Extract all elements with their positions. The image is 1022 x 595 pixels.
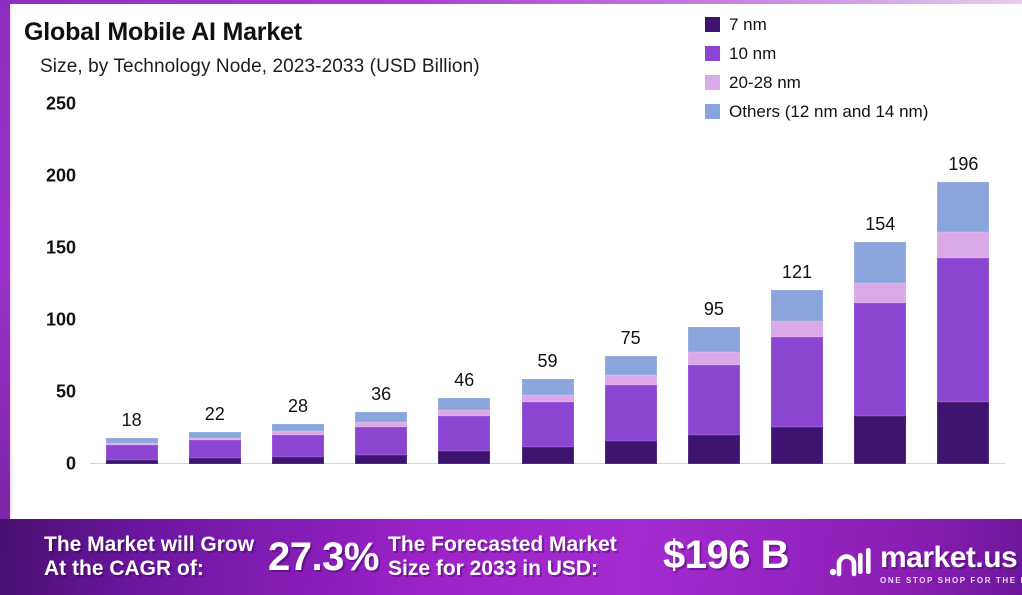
- legend-swatch-icon: [705, 17, 720, 32]
- cagr-label: The Market will Grow At the CAGR of:: [44, 533, 254, 581]
- bar-segment[interactable]: [106, 460, 158, 464]
- bar-value-label: 28: [288, 396, 308, 417]
- legend-item[interactable]: 20-28 nm: [705, 68, 1015, 97]
- bar-segment[interactable]: [355, 455, 407, 464]
- bar-segment[interactable]: [605, 385, 657, 441]
- forecast-label: The Forecasted Market Size for 2033 in U…: [388, 533, 617, 581]
- bar-value-label: 46: [454, 370, 474, 391]
- bar-value-label: 75: [621, 328, 641, 349]
- bar-segment[interactable]: [272, 424, 324, 431]
- y-axis-tick-label: 50: [56, 382, 76, 403]
- bar-segment[interactable]: [605, 375, 657, 384]
- logo-tagline: ONE STOP SHOP FOR THE REPORTS: [880, 576, 1022, 585]
- bar-segment[interactable]: [522, 447, 574, 464]
- banner-content: The Market will Grow At the CAGR of: 27.…: [0, 519, 1022, 595]
- y-axis-tick-label: 250: [46, 94, 76, 115]
- bar-segment[interactable]: [937, 258, 989, 402]
- forecast-label-line1: The Forecasted Market: [388, 533, 617, 556]
- bar-segment[interactable]: [937, 182, 989, 232]
- bar-segment[interactable]: [854, 242, 906, 282]
- legend-swatch-icon: [705, 46, 720, 61]
- bar-stack[interactable]: [605, 356, 657, 464]
- y-axis-tick-label: 200: [46, 166, 76, 187]
- bar-segment[interactable]: [688, 327, 740, 352]
- legend-item-label: 10 nm: [729, 44, 776, 64]
- bar-stack[interactable]: [937, 182, 989, 464]
- y-axis-tick-label: 100: [46, 310, 76, 331]
- bar-value-label: 121: [782, 262, 812, 283]
- legend-item[interactable]: 10 nm: [705, 39, 1015, 68]
- bar-value-label: 36: [371, 384, 391, 405]
- bar-segment[interactable]: [854, 416, 906, 464]
- bar-segment[interactable]: [522, 402, 574, 447]
- y-axis-tick-label: 150: [46, 238, 76, 259]
- bar-segment[interactable]: [771, 337, 823, 426]
- bar-segment[interactable]: [272, 435, 324, 457]
- bar-value-label: 18: [122, 410, 142, 431]
- bar-stack[interactable]: [272, 424, 324, 464]
- bottom-banner: The Market will Grow At the CAGR of: 27.…: [0, 519, 1022, 595]
- legend-item[interactable]: 7 nm: [705, 10, 1015, 39]
- bar-value-label: 154: [865, 214, 895, 235]
- bar-segment[interactable]: [605, 356, 657, 375]
- page-title: Global Mobile AI Market: [24, 18, 302, 47]
- y-axis: 050100150200250: [12, 104, 82, 464]
- bar-segment[interactable]: [189, 440, 241, 458]
- cagr-label-line1: The Market will Grow: [44, 533, 254, 556]
- bar-segment[interactable]: [937, 232, 989, 258]
- bar-segment[interactable]: [937, 402, 989, 464]
- bar-segment[interactable]: [688, 435, 740, 464]
- bar-segment[interactable]: [189, 458, 241, 464]
- legend-item-label: 7 nm: [729, 15, 767, 35]
- cagr-label-line2: At the CAGR of:: [44, 557, 204, 580]
- chart-card: Global Mobile AI Market Size, by Technol…: [10, 4, 1022, 517]
- bar-segment[interactable]: [272, 457, 324, 464]
- bar-segment[interactable]: [355, 412, 407, 422]
- bar-value-label: 22: [205, 404, 225, 425]
- bar-segment[interactable]: [522, 395, 574, 402]
- forecast-label-line2: Size for 2033 in USD:: [388, 557, 598, 580]
- bar-stack[interactable]: [688, 327, 740, 464]
- bar-segment[interactable]: [771, 427, 823, 464]
- bar-segment[interactable]: [854, 283, 906, 303]
- plot-area: 1820232220242820253620264620275920287520…: [90, 104, 1005, 464]
- frame-left-border: [0, 0, 10, 519]
- legend-item-label: 20-28 nm: [729, 73, 801, 93]
- bar-segment[interactable]: [438, 416, 490, 451]
- bar-segment[interactable]: [438, 398, 490, 410]
- bar-value-label: 59: [537, 351, 557, 372]
- infographic-root: Global Mobile AI Market Size, by Technol…: [0, 0, 1022, 595]
- bar-segment[interactable]: [106, 445, 158, 459]
- bar-stack[interactable]: [522, 379, 574, 464]
- page-subtitle: Size, by Technology Node, 2023-2033 (USD…: [40, 56, 480, 78]
- bar-segment[interactable]: [688, 365, 740, 436]
- bar-segment[interactable]: [854, 303, 906, 417]
- bar-stack[interactable]: [854, 242, 906, 464]
- cagr-value: 27.3%: [268, 535, 379, 581]
- logo-mark-icon: [828, 545, 874, 582]
- bar-stack[interactable]: [771, 290, 823, 464]
- bar-stack[interactable]: [438, 398, 490, 464]
- logo-text: market.us ONE STOP SHOP FOR THE REPORTS: [880, 543, 1022, 585]
- forecast-value: $196 B: [663, 533, 789, 579]
- bar-segment[interactable]: [688, 352, 740, 364]
- bar-value-label: 95: [704, 299, 724, 320]
- bar-value-label: 196: [948, 154, 978, 175]
- bar-segment[interactable]: [522, 379, 574, 395]
- bar-stack[interactable]: [106, 438, 158, 464]
- bar-segment[interactable]: [771, 321, 823, 337]
- bar-segment[interactable]: [438, 451, 490, 464]
- market-us-logo[interactable]: market.us ONE STOP SHOP FOR THE REPORTS: [828, 543, 1022, 585]
- y-axis-tick-label: 0: [66, 454, 76, 475]
- bar-segment[interactable]: [355, 427, 407, 455]
- bar-stack[interactable]: [355, 412, 407, 464]
- bar-stack[interactable]: [189, 432, 241, 464]
- logo-name: market.us: [880, 543, 1022, 573]
- bar-segment[interactable]: [605, 441, 657, 464]
- legend-swatch-icon: [705, 75, 720, 90]
- bar-segment[interactable]: [771, 290, 823, 322]
